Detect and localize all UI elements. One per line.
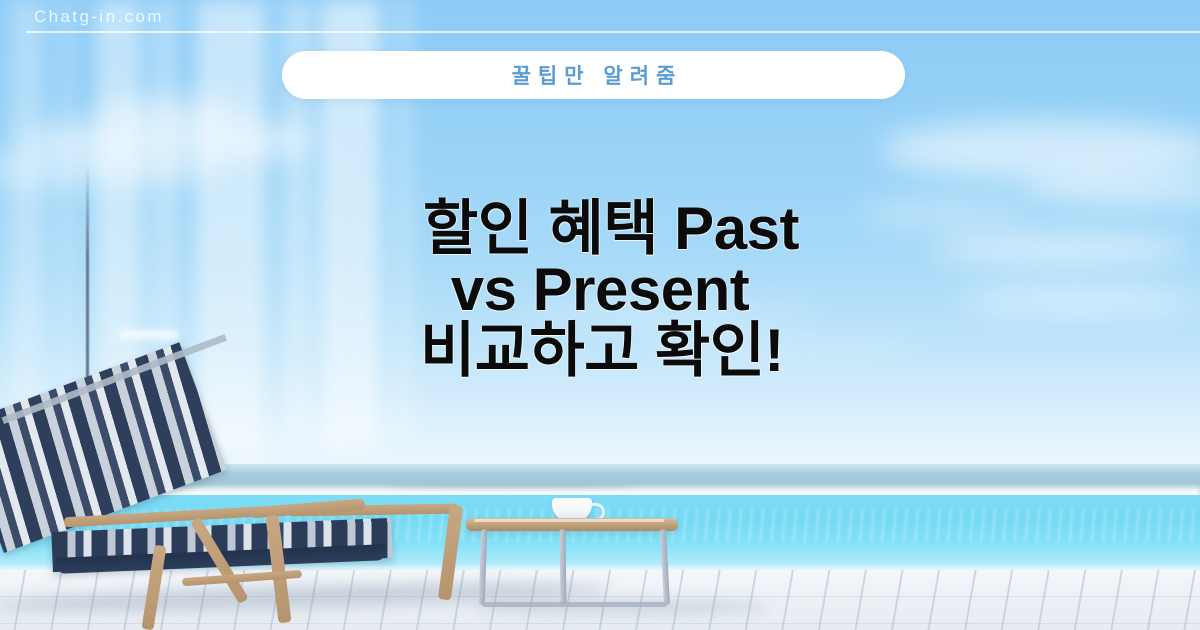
watermark-divider	[26, 31, 1200, 33]
site-watermark: Chatg-in.com	[34, 7, 164, 27]
table-leg	[660, 529, 670, 605]
page-title: 할인 혜택 Past vs Present 비교하고 확인!	[0, 198, 1200, 382]
headline-line-3: 비교하고 확인!	[4, 320, 1200, 381]
table-top	[466, 518, 678, 531]
table-leg	[560, 529, 567, 605]
thumbnail-card: Chatg-in.com 꿀팁만 알려줌 할인 혜택 Past vs Prese…	[0, 0, 1200, 630]
table-leg	[479, 529, 488, 605]
side-table	[466, 518, 678, 610]
headline-line-1: 할인 혜택 Past	[22, 198, 1200, 259]
lounge-chair	[0, 395, 470, 630]
tagline-badge-label: 꿀팁만 알려줌	[505, 60, 683, 90]
table-cross-bar	[482, 602, 667, 607]
chair-back-right-leg	[438, 505, 463, 601]
tagline-badge[interactable]: 꿀팁만 알려줌	[282, 51, 905, 99]
headline-line-2: vs Present	[0, 259, 1200, 320]
table-top-highlight	[474, 519, 664, 522]
watermark-band: Chatg-in.com	[0, 0, 1200, 34]
